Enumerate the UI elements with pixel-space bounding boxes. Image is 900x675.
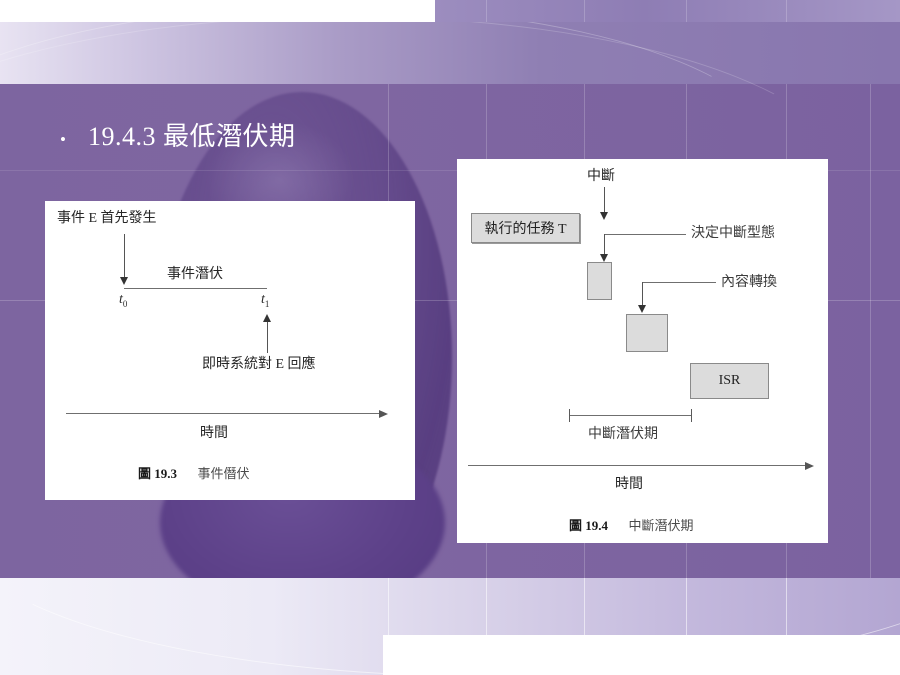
slide-title-row: • 19.4.3 最低潛伏期 [60, 116, 295, 153]
interrupt-latency-label: 中斷潛伏期 [588, 423, 658, 443]
figure-19-3-caption: 圖 19.3 事件僭伏 [138, 463, 250, 482]
event-arrow-shaft [124, 234, 125, 280]
determine-type-callout-line [604, 234, 686, 235]
figure-19-4-caption-number: 圖 19.4 [569, 518, 608, 533]
latency-bracket-line [569, 415, 692, 416]
interrupt-dispatch-box [587, 262, 612, 300]
interrupt-label: 中斷 [587, 165, 615, 185]
running-task-box-label: 執行的任務 T [484, 218, 566, 238]
t1-label: t1 [261, 292, 269, 309]
grid-line-top-v4 [786, 0, 787, 22]
figure-19-4-time-axis-label: 時間 [615, 473, 643, 493]
context-switch-box [626, 314, 668, 352]
interrupt-arrow-head [600, 212, 608, 220]
latency-bracket-tick-left [569, 409, 570, 422]
event-origin-label: 事件 E 首先發生 [57, 207, 157, 227]
figure-19-4-caption-text: 中斷潛伏期 [629, 518, 694, 533]
grid-line-top-v1 [486, 0, 487, 22]
response-label: 即時系統對 E 回應 [202, 353, 316, 373]
context-switch-label: 內容轉換 [721, 271, 777, 291]
event-latency-label: 事件潛伏 [167, 263, 223, 283]
response-arrow-head [263, 314, 271, 322]
figure-19-3-caption-text: 事件僭伏 [198, 466, 250, 481]
determine-type-label: 決定中斷型態 [691, 222, 775, 242]
response-arrow-shaft [267, 317, 268, 353]
event-arrow-head [120, 277, 128, 285]
figure-19-4-panel: 中斷 執行的任務 T 決定中斷型態 內容轉換 ISR 中斷潛伏期 [457, 159, 828, 543]
grid-line-top-v3 [686, 0, 687, 22]
figure-19-4-time-axis-arrow [805, 462, 814, 470]
latency-bracket-tick-right [691, 409, 692, 422]
bullet-icon: • [60, 131, 66, 148]
context-switch-arrow-head [638, 305, 646, 313]
figure-19-4-caption: 圖 19.4 中斷潛伏期 [569, 515, 694, 534]
grid-line-top-v2 [584, 0, 585, 22]
figure-19-3-caption-number: 圖 19.3 [138, 466, 177, 481]
t0-label: t0 [119, 292, 127, 309]
isr-box: ISR [690, 363, 769, 399]
determine-type-arrow-head [600, 254, 608, 262]
figure-19-4-time-axis-line [468, 465, 808, 466]
figure-19-3-panel: 事件 E 首先發生 事件潛伏 t0 t1 即時系統對 E 回應 時間 圖 19.… [45, 201, 415, 500]
background-bottom-white-block [383, 635, 900, 675]
context-switch-callout-line [642, 282, 716, 283]
slide-canvas: • 19.4.3 最低潛伏期 事件 E 首先發生 事件潛伏 t0 t1 即時系統… [0, 0, 900, 675]
time-axis-label: 時間 [200, 422, 228, 442]
latency-span-line [124, 288, 267, 289]
page-title: 19.4.3 最低潛伏期 [88, 116, 296, 153]
time-axis-arrow [379, 410, 388, 418]
interrupt-arrow-shaft [604, 187, 605, 215]
background-top-white-block [0, 0, 435, 22]
background-top-right-band [435, 0, 900, 22]
running-task-box: 執行的任務 T [471, 213, 580, 243]
isr-box-label: ISR [719, 373, 741, 389]
time-axis-line [66, 413, 382, 414]
